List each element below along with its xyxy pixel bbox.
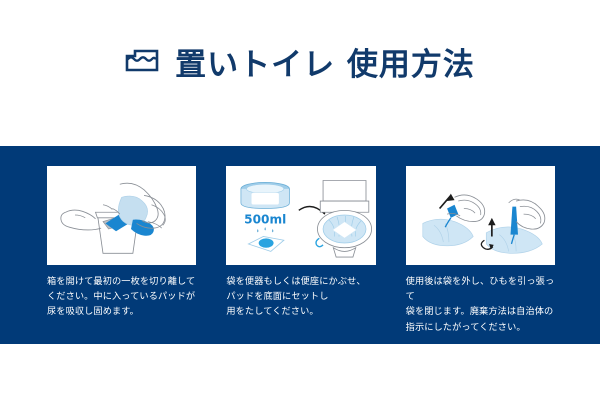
step-1-illustration-open-box-tear-sheet [47, 166, 196, 265]
capacity-label: 500ml [244, 212, 286, 226]
step-1-caption: 箱を開けて最初の一枚を切り離して ください。中に入っているパッドが 尿を吸収し固… [47, 274, 196, 320]
portable-toilet-icon [125, 49, 159, 73]
step-2-caption-line-1: 袋を便器もしくは便座にかぶせ、 [226, 274, 375, 289]
header-inner: 置いトイレ 使用方法 [125, 39, 475, 84]
infographic-root: 置いトイレ 使用方法 [0, 0, 600, 400]
footer-whitespace [0, 344, 600, 400]
step-1-caption-line-1: 箱を開けて最初の一枚を切り離して [47, 274, 196, 289]
step-2-caption-line-2: パッドを底面にセットし [226, 289, 375, 304]
step-1-caption-line-2: ください。中に入っているパッドが [47, 289, 196, 304]
step-2-illustration-set-bag-on-toilet: 500ml [226, 166, 375, 265]
step-1-caption-line-3: 尿を吸収し固めます。 [47, 304, 196, 319]
page-title: 置いトイレ 使用方法 [175, 39, 475, 84]
step-3-illustration-remove-and-tie-bag [406, 166, 555, 265]
step-3: 使用後は袋を外し、ひもを引っ張って 袋を閉じます。廃棄方法は自治体の 指示にした… [406, 166, 555, 344]
header: 置いトイレ 使用方法 [0, 0, 600, 146]
step-2-caption: 袋を便器もしくは便座にかぶせ、 パッドを底面にセットし 用をたしてください。 [226, 274, 375, 320]
step-1: 箱を開けて最初の一枚を切り離して ください。中に入っているパッドが 尿を吸収し固… [47, 166, 196, 344]
step-2-caption-line-3: 用をたしてください。 [226, 304, 375, 319]
step-3-caption-line-2: 袋を閉じます。廃棄方法は自治体の [406, 304, 555, 319]
step-3-caption-line-3: 指示にしたがってください。 [406, 320, 555, 335]
step-2: 500ml [226, 166, 375, 344]
step-3-caption: 使用後は袋を外し、ひもを引っ張って 袋を閉じます。廃棄方法は自治体の 指示にした… [406, 274, 555, 335]
step-3-caption-line-1: 使用後は袋を外し、ひもを引っ張って [406, 274, 555, 304]
steps-row: 箱を開けて最初の一枚を切り離して ください。中に入っているパッドが 尿を吸収し固… [0, 146, 600, 344]
